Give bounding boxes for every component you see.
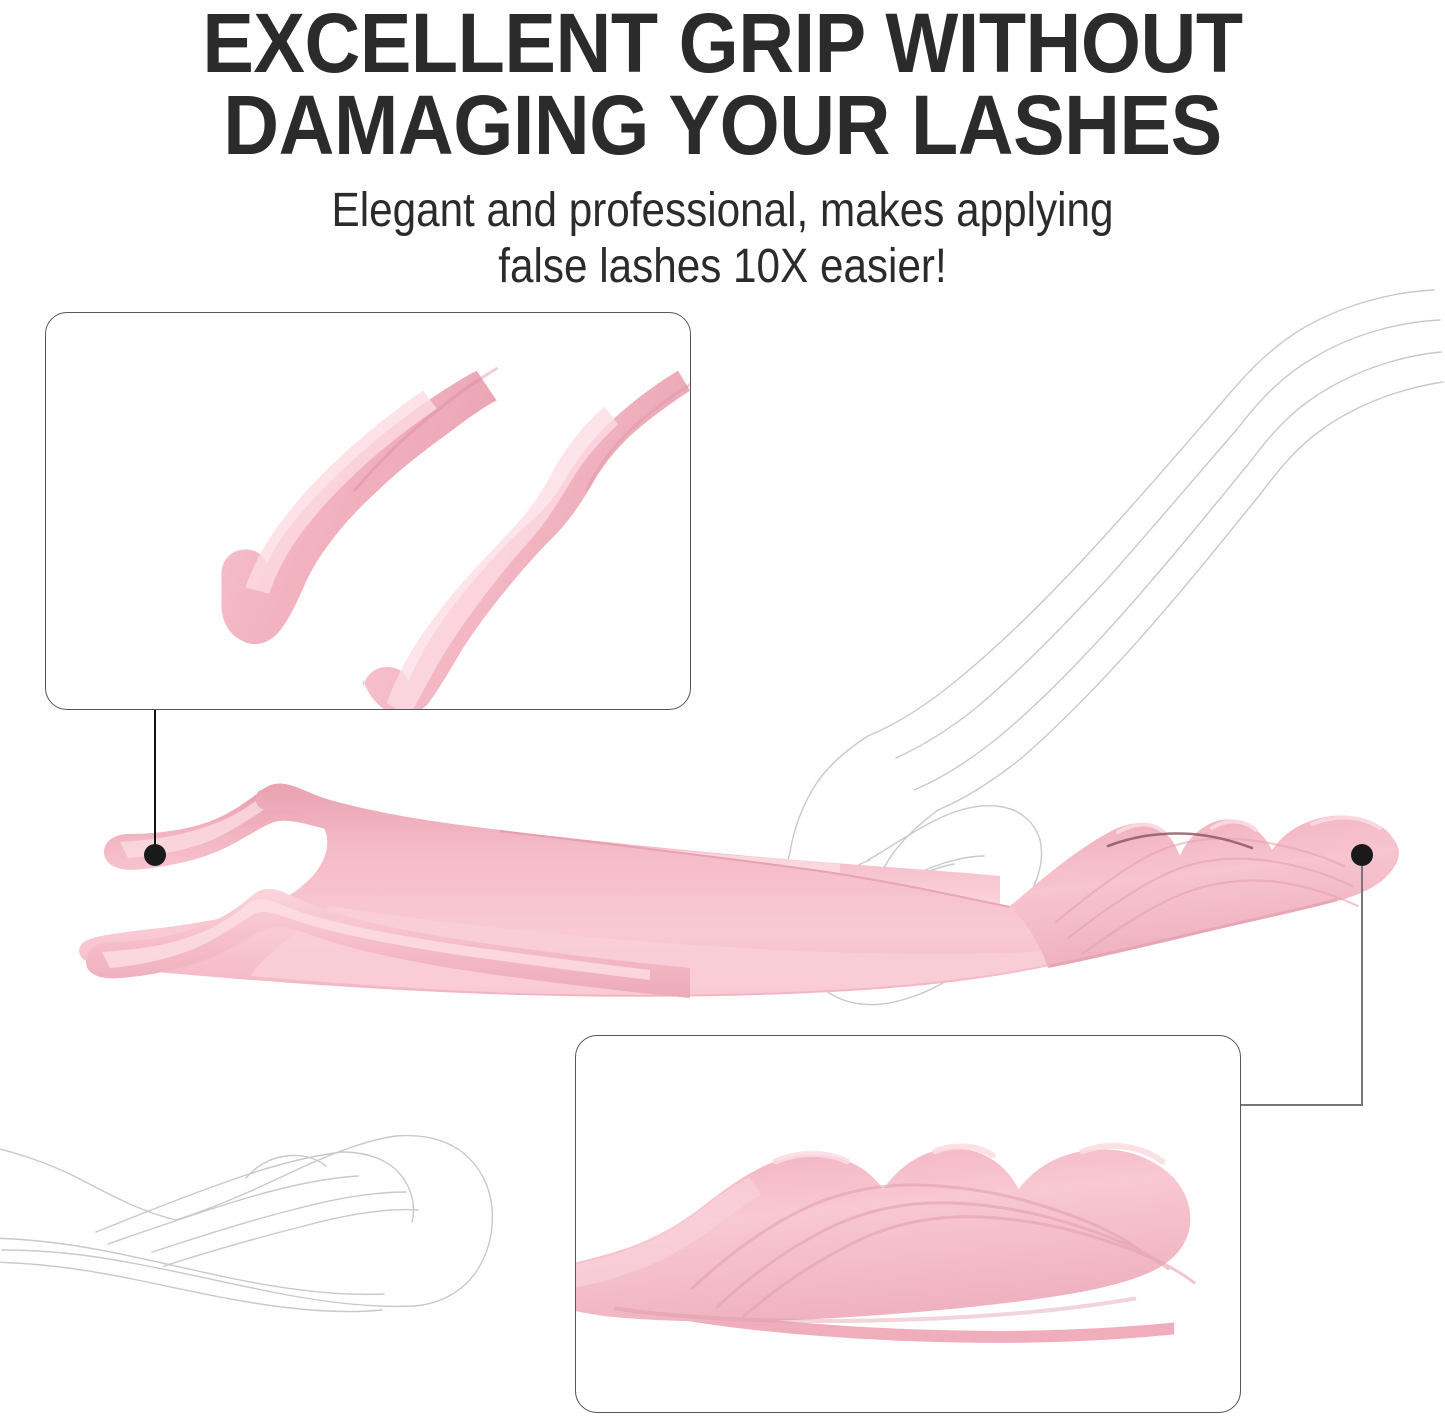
product-feature-graphic: EXCELLENT GRIP WITHOUT DAMAGING YOUR LAS… [0,0,1445,1420]
tweezer-tips-zoom-art [46,313,690,709]
wing-handle-zoom-art [576,1036,1240,1412]
tweezer-main-view [79,784,1399,998]
callout-tweezer-tips-detail [45,312,691,710]
tweezer-wing-handle [1010,816,1397,968]
callout-wing-handle-detail [575,1035,1241,1413]
outline-wing-bottom-left [0,1136,492,1312]
